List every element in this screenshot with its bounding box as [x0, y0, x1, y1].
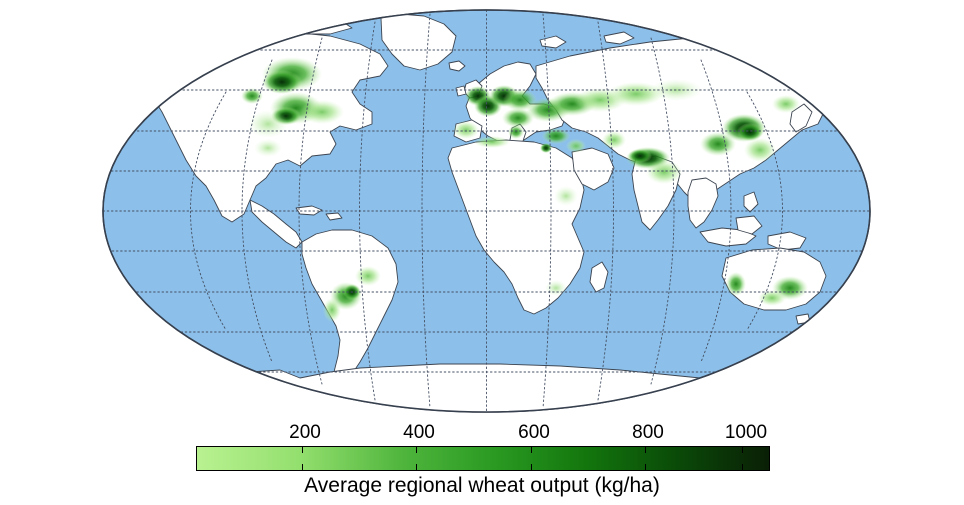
wheat-region-anatolia	[542, 128, 570, 144]
colorbar-tick-400-top	[416, 447, 417, 453]
colorbar-tick-600-bottom	[531, 464, 532, 470]
colorbar-tick-800-bottom	[645, 464, 646, 470]
colorbar-label-1000: 1000	[725, 422, 767, 444]
wheat-region-punjab	[628, 149, 652, 163]
wheat-region-maghreb	[474, 136, 510, 148]
wheat-region-central-chile	[323, 298, 341, 322]
wheat-region-fertile-crescent	[566, 139, 586, 153]
colorbar-tick-1000-top	[742, 447, 743, 453]
wheat-region-central-india	[646, 160, 682, 184]
wheat-region-south-africa	[545, 280, 567, 296]
colorbar-label-200: 200	[289, 422, 321, 444]
wheat-region-iberia	[453, 121, 479, 139]
wheat-region-sichuan-basin	[700, 132, 736, 156]
colorbar-gradient	[197, 447, 769, 470]
colorbar-tick-1000-bottom	[742, 464, 743, 470]
colorbar-tick-200-bottom	[302, 464, 303, 470]
world-map	[103, 10, 870, 412]
colorbar[interactable]	[196, 446, 770, 471]
wheat-region-po-valley	[508, 125, 524, 139]
wheat-region-iran	[602, 131, 626, 149]
colorbar-label-400: 400	[403, 422, 435, 444]
colorbar-tick-400-bottom	[416, 464, 417, 470]
wheat-region-ethiopian-highlands	[554, 186, 578, 206]
wheat-output-world-map-figure	[0, 0, 964, 505]
wheat-region-southern-brazil	[355, 266, 381, 286]
colorbar-tick-600-top	[531, 447, 532, 453]
colorbar-tick-200-top	[302, 447, 303, 453]
land-ireland	[456, 86, 466, 96]
colorbar-label-800: 800	[632, 422, 664, 444]
wheat-region-yangtze	[744, 138, 776, 162]
colorbar-caption: Average regional wheat output (kg/ha)	[0, 474, 964, 498]
wheat-region-central-mexico	[254, 139, 282, 157]
colorbar-tick-800-top	[645, 447, 646, 453]
wheat-region-manchuria	[772, 95, 800, 113]
wheat-region-us-southwest	[248, 110, 288, 138]
colorbar-label-600: 600	[518, 422, 550, 444]
